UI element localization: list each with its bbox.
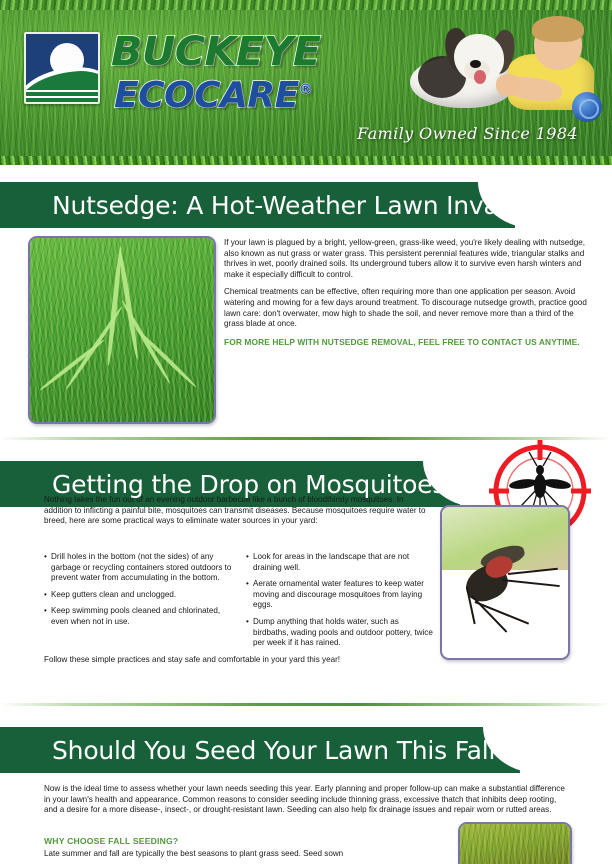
grass-texture-bottom <box>0 156 612 165</box>
mosquitoes-heading: Getting the Drop on Mosquitoes <box>0 470 445 499</box>
list-item: Look for areas in the landscape that are… <box>246 552 434 573</box>
mosquitoes-intro: Nothing takes the fun out of an evening … <box>44 495 434 527</box>
list-item: Drill holes in the bottom (not the sides… <box>44 552 234 584</box>
seeding-subparagraph: Late summer and fall are typically the b… <box>44 849 414 860</box>
logo-wordmark-line2: ECOCARE® <box>114 72 317 114</box>
divider-2 <box>0 703 612 706</box>
mosquitoes-bullets-left: Drill holes in the bottom (not the sides… <box>44 552 234 628</box>
masthead-tagline: Family Owned Since 1984 <box>357 124 578 143</box>
list-item: Aerate ornamental water features to keep… <box>246 579 434 611</box>
list-item: Dump anything that holds water, such as … <box>246 617 434 649</box>
nutsedge-body: If your lawn is plagued by a bright, yel… <box>224 238 590 347</box>
grass-texture-top <box>0 0 612 10</box>
newsletter-page: BUCKEYE ECOCARE® Family Owned Since 1984… <box>0 0 612 864</box>
mosquito-photo <box>440 505 570 660</box>
seeding-paragraph-1: Now is the ideal time to assess whether … <box>44 784 568 816</box>
logo-mark-icon <box>24 32 100 104</box>
mosquitoes-bullets-right: Look for areas in the landscape that are… <box>246 552 434 649</box>
nutsedge-banner: Nutsedge: A Hot-Weather Lawn Invader <box>0 182 540 228</box>
nutsedge-photo <box>28 236 216 424</box>
list-item: Keep swimming pools cleaned and chlorina… <box>44 606 234 627</box>
mosquitoes-closing: Follow these simple practices and stay s… <box>44 655 444 666</box>
nutsedge-heading: Nutsedge: A Hot-Weather Lawn Invader <box>0 191 540 220</box>
nutsedge-paragraph-2: Chemical treatments can be effective, of… <box>224 287 590 329</box>
seeding-heading: Should You Seed Your Lawn This Fall? <box>0 736 508 765</box>
grass-seed-photo <box>458 822 572 864</box>
company-logo[interactable]: BUCKEYE ECOCARE® <box>24 32 317 114</box>
blue-ball <box>572 92 602 122</box>
nutsedge-paragraph-1: If your lawn is plagued by a bright, yel… <box>224 238 590 280</box>
masthead: BUCKEYE ECOCARE® Family Owned Since 1984 <box>0 0 612 165</box>
seeding-body: Now is the ideal time to assess whether … <box>44 784 568 816</box>
registered-trademark-icon: ® <box>299 82 313 98</box>
boy-and-dog-photo <box>392 16 602 136</box>
logo-wordmark-line1: BUCKEYE <box>111 32 321 72</box>
seeding-banner: Should You Seed Your Lawn This Fall? <box>0 727 508 773</box>
nutsedge-callout: FOR MORE HELP WITH NUTSEDGE REMOVAL, FEE… <box>224 337 590 347</box>
list-item: Keep gutters clean and unclogged. <box>44 590 234 601</box>
seeding-subhead: WHY CHOOSE FALL SEEDING? <box>44 836 178 846</box>
